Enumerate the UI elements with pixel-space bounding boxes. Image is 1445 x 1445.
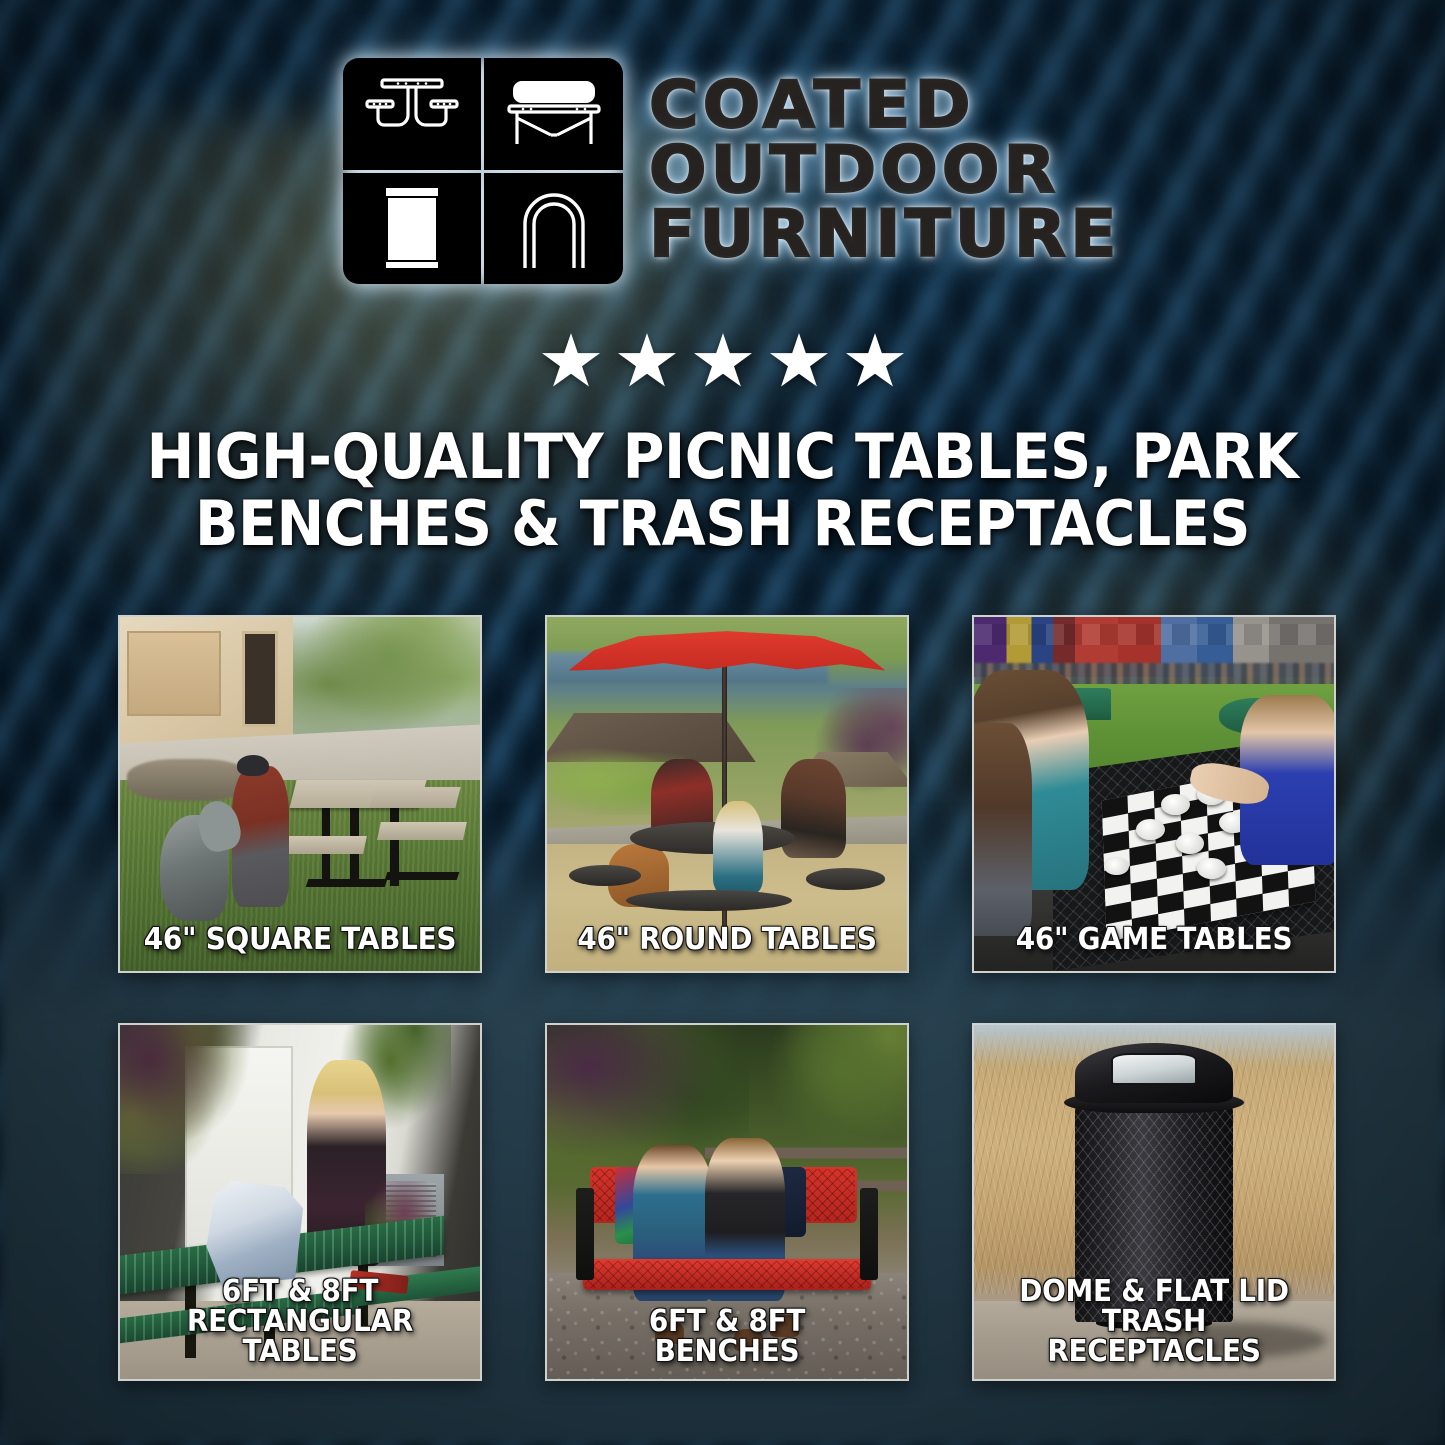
product-grid: 46" SQUARE TABLES [118,615,1327,1381]
tile-caption: 46" ROUND TABLES [565,925,889,955]
product-tile-benches[interactable]: 6FT & 8FT BENCHES [545,1023,909,1381]
tile-caption: 46" SQUARE TABLES [138,925,462,955]
headline-line-2: BENCHES & TRASH RECEPTACLES [58,491,1387,558]
park-bench-icon [484,58,623,170]
tile-caption: 46" GAME TABLES [992,925,1316,955]
caption-line: TRASH RECEPTACLES [992,1307,1316,1367]
product-tile-square-tables[interactable]: 46" SQUARE TABLES [118,615,482,973]
wordmark-line-2: OUTDOOR [649,140,1121,202]
star-icon [694,332,752,390]
picnic-table-icon [343,58,482,170]
caption-line: DOME & FLAT LID [992,1277,1316,1307]
star-icon [846,332,904,390]
caption-line: 6FT & 8FT [138,1277,462,1307]
trash-receptacle-icon [343,173,482,285]
wordmark-line-1: COATED [649,75,1121,137]
star-icon [618,332,676,390]
bike-rack-icon [484,173,623,285]
wordmark-line-3: FURNITURE [649,204,1121,266]
tile-caption: DOME & FLAT LID TRASH RECEPTACLES [992,1277,1316,1367]
product-photo-square-tables [120,617,480,971]
star-icon [770,332,828,390]
caption-line: 46" SQUARE TABLES [138,925,462,955]
product-tile-trash-receptacles[interactable]: DOME & FLAT LID TRASH RECEPTACLES [972,1023,1336,1381]
brand-logo: COATED OUTDOOR FURNITURE [0,58,1445,284]
headline-line-1: HIGH-QUALITY PICNIC TABLES, PARK [58,424,1387,491]
product-tile-game-tables[interactable]: 46" GAME TABLES [972,615,1336,973]
product-photo-round-tables [547,617,907,971]
product-tile-rectangular-tables[interactable]: 6FT & 8FT RECTANGULAR TABLES [118,1023,482,1381]
brand-wordmark: COATED OUTDOOR FURNITURE [649,75,1102,266]
logo-icon-grid [343,58,623,284]
page-title: HIGH-QUALITY PICNIC TABLES, PARK BENCHES… [58,424,1387,558]
star-rating [0,332,1445,390]
caption-line: BENCHES [565,1337,889,1367]
tile-caption: 6FT & 8FT BENCHES [565,1307,889,1367]
star-icon [542,332,600,390]
caption-line: 46" ROUND TABLES [565,925,889,955]
caption-line: 6FT & 8FT [565,1307,889,1337]
caption-line: RECTANGULAR TABLES [138,1307,462,1367]
product-tile-round-tables[interactable]: 46" ROUND TABLES [545,615,909,973]
caption-line: 46" GAME TABLES [992,925,1316,955]
tile-caption: 6FT & 8FT RECTANGULAR TABLES [138,1277,462,1367]
product-photo-game-tables [974,617,1334,971]
